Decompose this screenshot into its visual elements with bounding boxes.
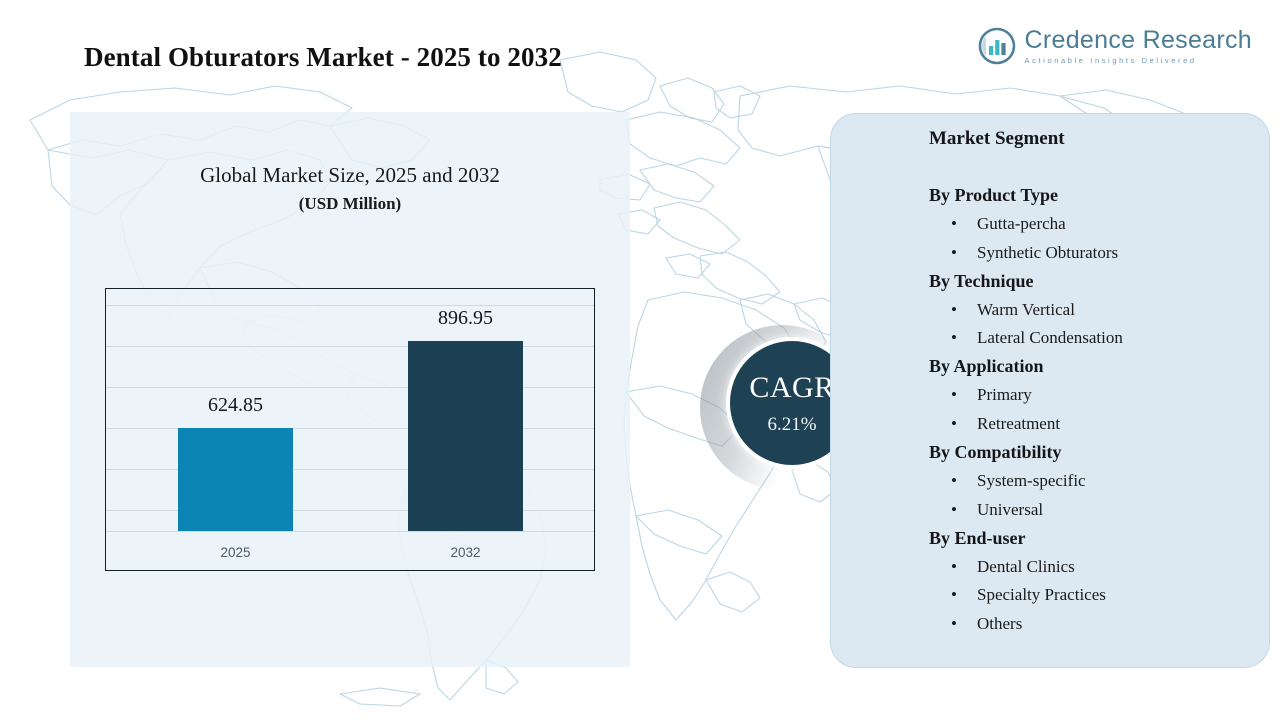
cagr-value: 6.21% bbox=[767, 415, 816, 434]
infographic-page: Dental Obturators Market - 2025 to 2032 … bbox=[0, 0, 1280, 720]
segment-group-title: By Compatibility bbox=[929, 439, 1269, 467]
segment-item: Others bbox=[929, 610, 1269, 639]
page-title: Dental Obturators Market - 2025 to 2032 bbox=[84, 42, 562, 73]
category-label-2025: 2025 bbox=[178, 545, 293, 560]
segment-group-compatibility: By Compatibility System-specific Univers… bbox=[929, 439, 1269, 525]
market-segment-panel: Market Segment By Product Type Gutta-per… bbox=[830, 113, 1270, 668]
segment-item: Gutta-percha bbox=[929, 210, 1269, 239]
segment-item: Universal bbox=[929, 496, 1269, 525]
segment-item: System-specific bbox=[929, 467, 1269, 496]
segment-item: Primary bbox=[929, 381, 1269, 410]
chart-title: Global Market Size, 2025 and 2032 bbox=[70, 163, 630, 188]
market-segment-heading: Market Segment bbox=[929, 128, 1269, 150]
bar-2025 bbox=[178, 428, 293, 531]
cagr-label: CAGR bbox=[749, 373, 834, 403]
segment-group-end-user: By End-user Dental Clinics Specialty Pra… bbox=[929, 525, 1269, 640]
chart-heading: Global Market Size, 2025 and 2032 (USD M… bbox=[70, 163, 630, 214]
segment-group-title: By Application bbox=[929, 353, 1269, 381]
segment-item: Specialty Practices bbox=[929, 581, 1269, 610]
bar-chart-circle-icon bbox=[977, 26, 1017, 66]
bar-value-label-2032: 896.95 bbox=[408, 307, 523, 330]
category-label-2032: 2032 bbox=[408, 545, 523, 560]
brand-name: Credence Research bbox=[1025, 28, 1252, 53]
segment-group-application: By Application Primary Retreatment bbox=[929, 353, 1269, 439]
brand-logo: Credence Research Actionable Insights De… bbox=[977, 26, 1252, 66]
segment-group-technique: By Technique Warm Vertical Lateral Conde… bbox=[929, 268, 1269, 354]
bar-2032 bbox=[408, 341, 523, 531]
segment-group-product-type: By Product Type Gutta-percha Synthetic O… bbox=[929, 182, 1269, 268]
segment-item: Lateral Condensation bbox=[929, 324, 1269, 353]
segment-group-title: By End-user bbox=[929, 525, 1269, 553]
chart-subtitle: (USD Million) bbox=[70, 194, 630, 214]
brand-tagline: Actionable Insights Delivered bbox=[1025, 57, 1252, 65]
bar-chart-plot: 624.85 2025 896.95 2032 bbox=[105, 288, 595, 571]
segment-item: Dental Clinics bbox=[929, 553, 1269, 582]
segment-group-title: By Product Type bbox=[929, 182, 1269, 210]
segment-item: Warm Vertical bbox=[929, 296, 1269, 325]
segment-group-title: By Technique bbox=[929, 268, 1269, 296]
segment-item: Retreatment bbox=[929, 410, 1269, 439]
gridline bbox=[106, 305, 594, 306]
segment-item: Synthetic Obturators bbox=[929, 239, 1269, 268]
axis-baseline bbox=[106, 531, 594, 532]
bar-value-label-2025: 624.85 bbox=[178, 394, 293, 417]
